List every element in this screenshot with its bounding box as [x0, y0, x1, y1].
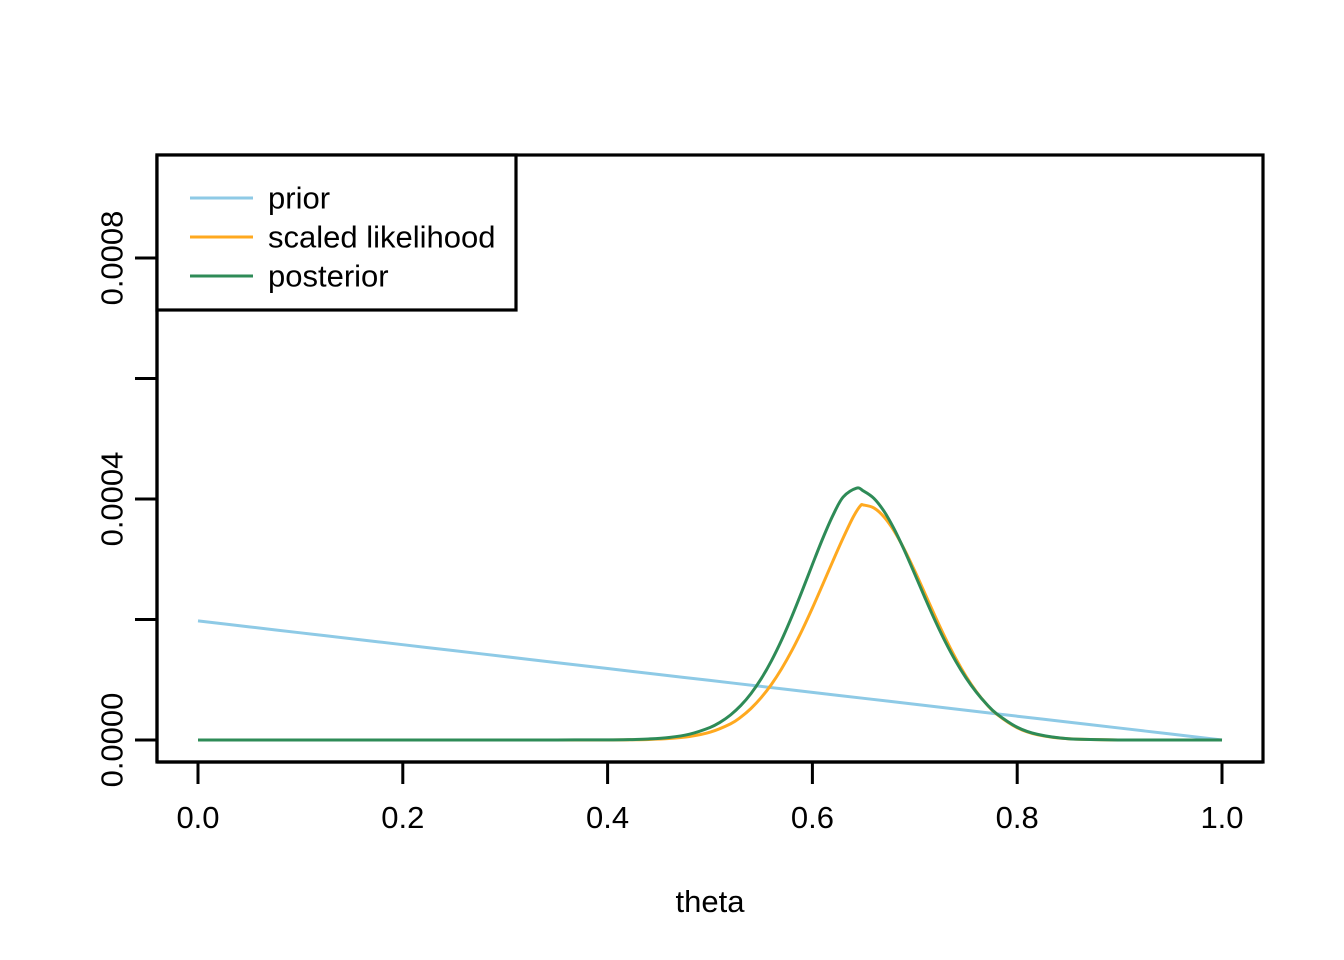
x-axis-ticks: 0.00.20.40.60.81.0	[176, 762, 1243, 835]
x-tick-label: 0.8	[996, 800, 1039, 835]
chart-svg: 0.00.20.40.60.81.0 0.00000.00040.0008 th…	[0, 0, 1344, 960]
series-line-prior	[198, 621, 1222, 740]
x-tick-label: 0.6	[791, 800, 834, 835]
series-line-scaled-likelihood	[198, 504, 1222, 740]
y-tick-label: 0.0008	[95, 211, 130, 306]
x-axis-title: theta	[676, 884, 746, 919]
series-line-posterior	[198, 488, 1222, 740]
x-tick-label: 0.0	[176, 800, 219, 835]
legend-label-posterior: posterior	[268, 259, 389, 294]
x-tick-label: 0.2	[381, 800, 424, 835]
plot-canvas: 0.00.20.40.60.81.0 0.00000.00040.0008 th…	[0, 0, 1344, 960]
legend: priorscaled likelihoodposterior	[157, 155, 516, 310]
y-tick-label: 0.0004	[95, 452, 130, 547]
legend-label-scaled-likelihood: scaled likelihood	[268, 220, 495, 255]
x-tick-label: 1.0	[1200, 800, 1243, 835]
legend-label-prior: prior	[268, 181, 330, 216]
x-tick-label: 0.4	[586, 800, 629, 835]
y-tick-label: 0.0000	[95, 693, 130, 788]
series-group	[198, 488, 1222, 740]
y-axis-ticks: 0.00000.00040.0008	[95, 211, 158, 788]
